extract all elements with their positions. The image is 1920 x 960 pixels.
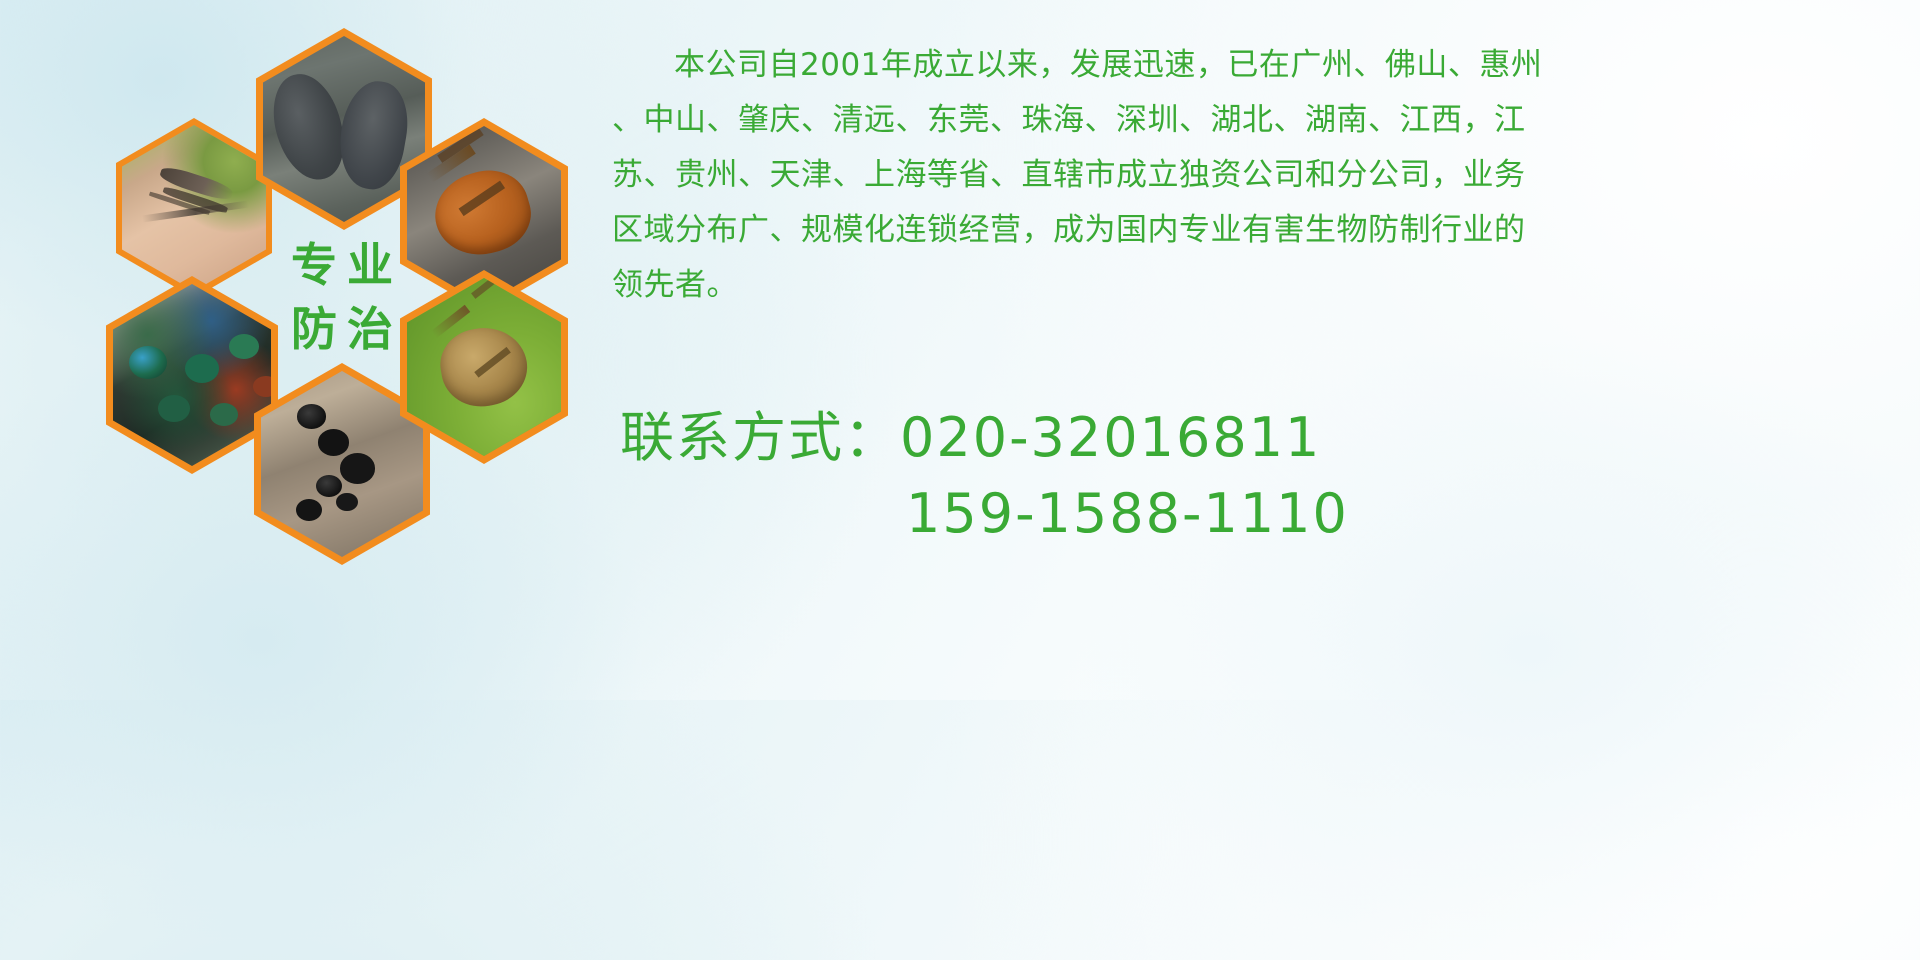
description-line: 、中山、肇庆、清远、东莞、珠海、深圳、湖北、湖南、江西，江 xyxy=(612,93,1902,148)
phone-primary[interactable]: 020-32016811 xyxy=(900,406,1321,469)
contact-block: 联系方式：020-32016811 159-1588-1110 xyxy=(620,400,1900,552)
description-line: 苏、贵州、天津、上海等省、直辖市成立独资公司和分公司，业务 xyxy=(612,148,1902,203)
description-line: 本公司自2001年成立以来，发展迅速，已在广州、佛山、惠州 xyxy=(612,38,1902,93)
flies-photo xyxy=(113,284,271,466)
mosquito-photo xyxy=(122,125,266,291)
hex-photo-frame xyxy=(261,371,423,557)
description-line: 领先者。 xyxy=(612,258,1902,313)
company-description: 本公司自2001年成立以来，发展迅速，已在广州、佛山、惠州 、中山、肇庆、清远、… xyxy=(612,38,1902,313)
hex-photo-frame xyxy=(407,278,561,456)
stinkbug-photo xyxy=(407,278,561,456)
hex-photo-frame xyxy=(122,125,266,291)
honeycomb-gallery: 专业 防治 xyxy=(88,8,588,568)
ants-photo xyxy=(261,371,423,557)
slogan-line-1: 专业 xyxy=(281,242,403,288)
contact-secondary-line: 159-1588-1110 xyxy=(620,476,1900,552)
hex-cell-mosquito[interactable] xyxy=(116,118,272,298)
contact-label: 联系方式： xyxy=(620,406,900,469)
hex-photo-frame xyxy=(113,284,271,466)
contact-primary-line: 联系方式：020-32016811 xyxy=(620,400,1900,476)
slogan-line-2: 防治 xyxy=(281,306,403,352)
hex-cell-flies[interactable] xyxy=(106,276,278,474)
description-line: 区域分布广、规模化连锁经营，成为国内专业有害生物防制行业的 xyxy=(612,203,1902,258)
phone-secondary[interactable]: 159-1588-1110 xyxy=(906,482,1349,545)
